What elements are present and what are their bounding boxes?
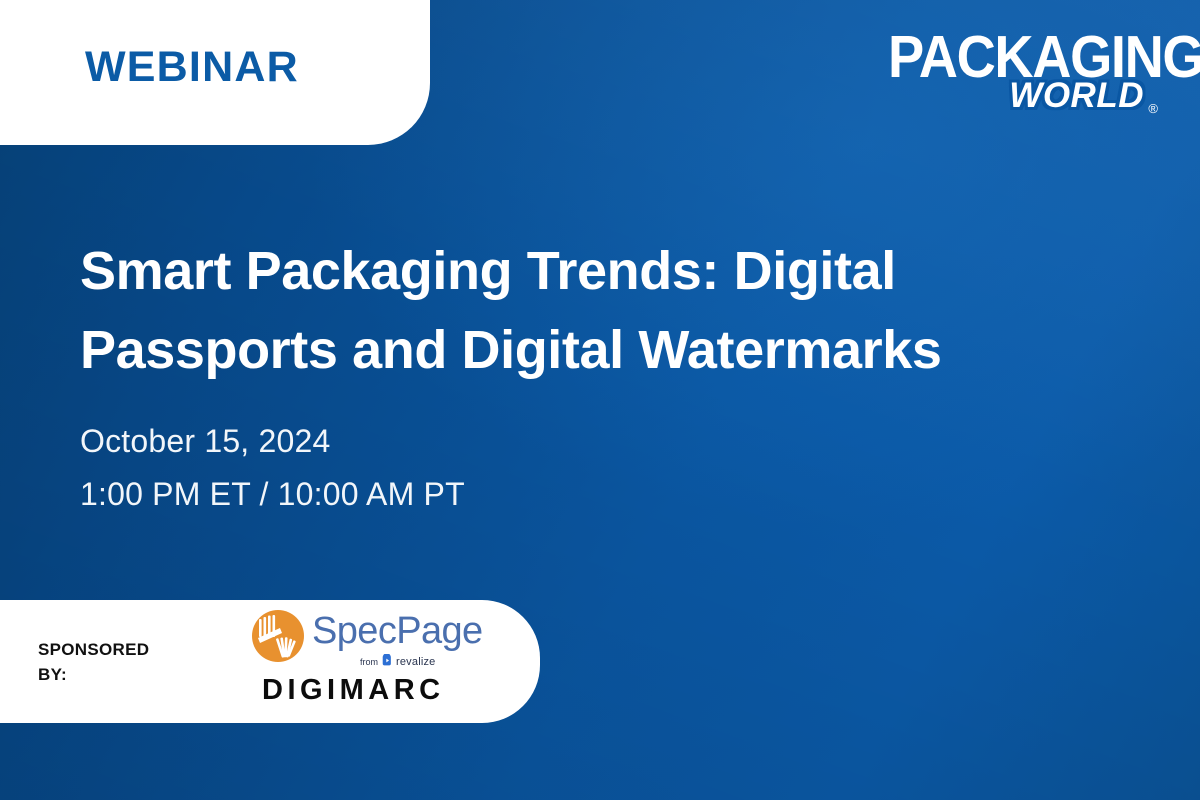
specpage-tagline: from revalize <box>360 653 436 671</box>
sponsored-by-line-1: SPONSORED <box>38 638 149 663</box>
tagline-prefix: from <box>360 658 378 667</box>
page-title-line-2: Passports and Digital Watermarks <box>80 311 1110 390</box>
webinar-badge-label: WEBINAR <box>0 46 299 145</box>
event-time: 1:00 PM ET / 10:00 AM PT <box>80 468 465 521</box>
page-title: Smart Packaging Trends: Digital Passport… <box>80 232 1110 390</box>
sponsor-logo-group: SpecPage from revalize DIGIMARC <box>250 600 480 723</box>
registered-trademark-icon: ® <box>1148 102 1158 115</box>
page-title-line-1: Smart Packaging Trends: Digital <box>80 232 1110 311</box>
sponsor-logo-specpage[interactable]: SpecPage from revalize <box>250 606 480 668</box>
sponsored-by-label: SPONSORED BY: <box>38 638 149 687</box>
sponsored-by-line-2: BY: <box>38 663 149 688</box>
packaging-world-logo[interactable]: PACKAGING WORLD ® <box>888 28 1158 124</box>
tagline-brand-name: revalize <box>396 657 436 668</box>
webinar-badge: WEBINAR <box>0 0 430 145</box>
logo-secondary-text: WORLD <box>1009 78 1144 113</box>
specpage-pinwheel-icon <box>250 608 306 664</box>
sponsor-panel: SPONSORED BY: <box>0 600 540 723</box>
event-date: October 15, 2024 <box>80 415 465 468</box>
revalize-icon <box>381 653 393 671</box>
specpage-wordmark: SpecPage <box>312 612 483 650</box>
sponsor-logo-digimarc[interactable]: DIGIMARC <box>262 676 445 705</box>
webinar-promo-card: WEBINAR PACKAGING WORLD ® Smart Packagin… <box>0 0 1200 800</box>
schedule-block: October 15, 2024 1:00 PM ET / 10:00 AM P… <box>80 415 465 521</box>
